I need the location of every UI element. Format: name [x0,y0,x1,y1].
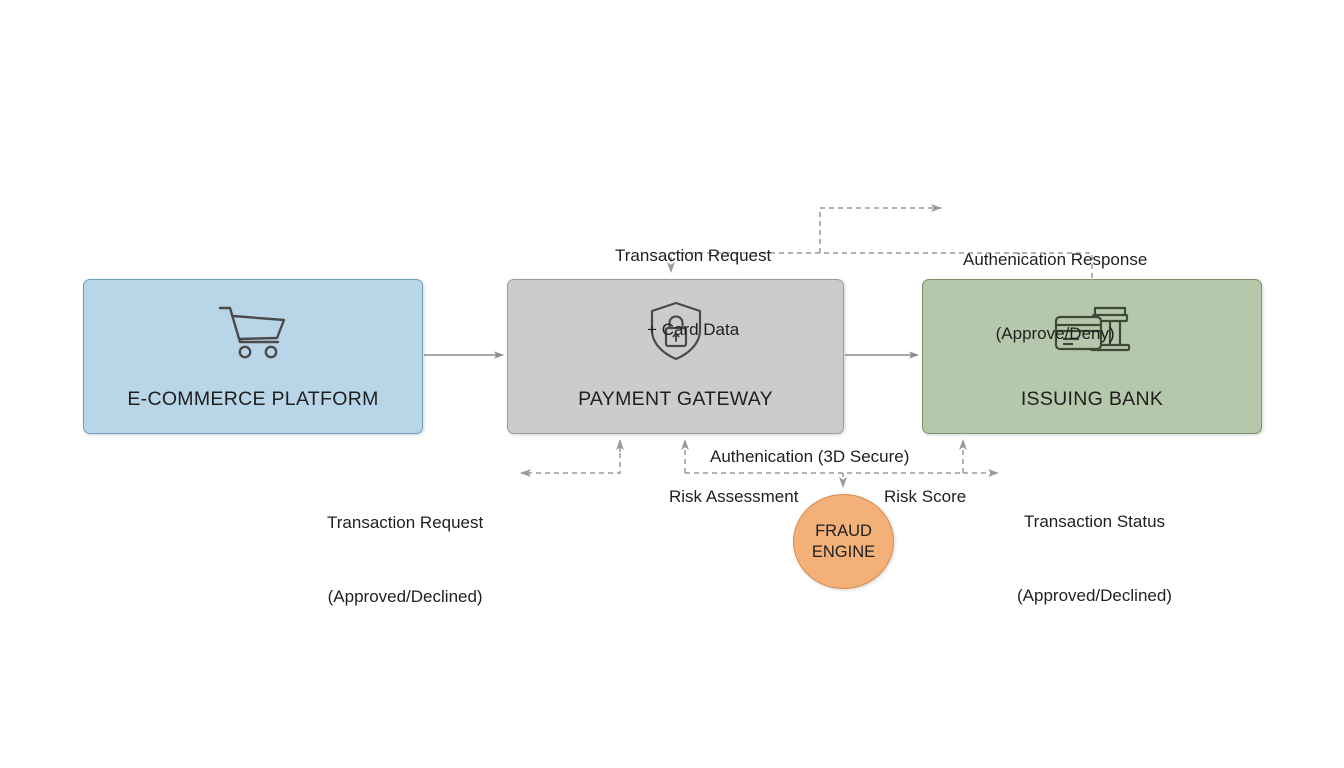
edge-label-authenication-response-line1: Authenication Response [963,248,1147,273]
shopping-cart-icon [216,302,290,360]
edge-label-transaction-status-line2: (Approved/Declined) [1017,584,1172,609]
node-label-ecommerce: E-COMMERCE PLATFORM [84,388,422,411]
edge-label-authenication-3d-secure: Authenication (3D Secure) [710,445,909,470]
edge-label-risk-score: Risk Score [884,485,966,510]
edge-label-transaction-request-result-line1: Transaction Request [327,511,483,536]
diagram-canvas: E-COMMERCE PLATFORM PAYMENT GATEWAY [0,0,1344,768]
edge-label-transaction-request-result: Transaction Request (Approved/Declined) [327,462,483,659]
edge-label-transaction-status: Transaction Status (Approved/Declined) [1017,461,1172,658]
edge-label-transaction-status-line1: Transaction Status [1017,510,1172,535]
node-ecommerce-platform[interactable]: E-COMMERCE PLATFORM [83,279,423,434]
edge-label-authenication-response-line2: (Approve/Deny) [963,322,1147,347]
node-fraud-engine[interactable]: FRAUD ENGINE [793,494,894,589]
edge-label-request-card-data: Transaction Request + Card Data [615,195,771,392]
fraud-engine-label-line2: ENGINE [812,542,875,562]
edge-label-authenication-response: Authenication Response (Approve/Deny) [963,199,1147,396]
edge-label-risk-assessment: Risk Assessment [669,485,798,510]
connector-transaction-request-result [521,440,620,473]
edge-label-request-card-data-line2: + Card Data [615,318,771,343]
edge-label-transaction-request-result-line2: (Approved/Declined) [327,585,483,610]
fraud-engine-label-line1: FRAUD [815,521,872,541]
edge-label-request-card-data-line1: Transaction Request [615,244,771,269]
